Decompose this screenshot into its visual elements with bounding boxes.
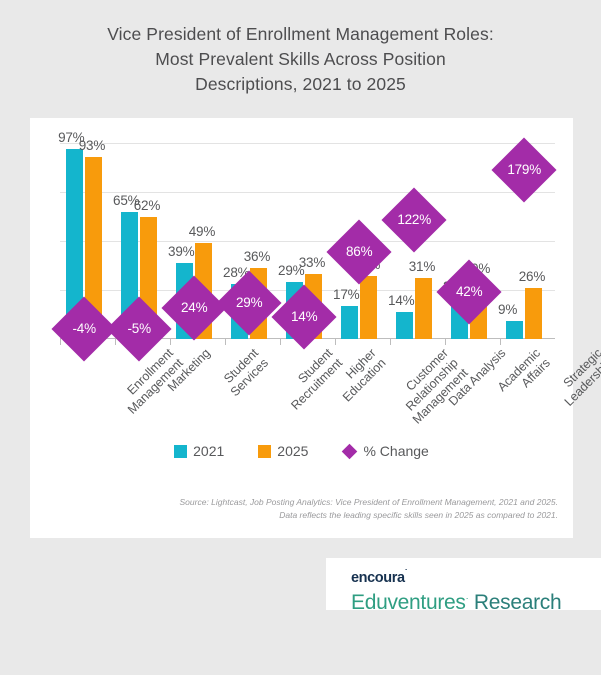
- bar-value-label-2025: 62%: [134, 198, 160, 213]
- plot-area: 97%93%-4%65%62%-5%39%49%24%28%36%29%29%3…: [60, 143, 555, 339]
- page-title: Vice President of Enrollment Management …: [0, 22, 601, 97]
- source-note: Source: Lightcast, Job Posting Analytics…: [30, 496, 558, 522]
- x-axis-label: HigherEducation: [330, 346, 388, 404]
- source-line-1: Source: Lightcast, Job Posting Analytics…: [30, 496, 558, 509]
- bar-2021[interactable]: [341, 306, 358, 339]
- bar-2021[interactable]: [506, 321, 523, 339]
- chart-legend: 20212025% Change: [30, 443, 573, 459]
- change-marker-label: 122%: [379, 212, 449, 227]
- bar-value-label-2025: 93%: [79, 138, 105, 153]
- bar-value-label-2021: 39%: [168, 244, 194, 259]
- bar-value-label-2025: 33%: [299, 255, 325, 270]
- bar-value-label-2025: 31%: [409, 259, 435, 274]
- legend-label: 2025: [277, 443, 308, 459]
- legend-item[interactable]: 2025: [258, 443, 308, 459]
- legend-item[interactable]: 2021: [174, 443, 224, 459]
- eduventures-trademark: ·: [466, 593, 469, 603]
- title-line-3: Descriptions, 2021 to 2025: [0, 72, 601, 97]
- gridline: [60, 143, 555, 144]
- eduventures-text: Eduventures: [351, 591, 466, 614]
- source-line-2: Data reflects the leading specific skill…: [30, 509, 558, 522]
- title-line-2: Most Prevalent Skills Across Position: [0, 47, 601, 72]
- legend-label: % Change: [363, 443, 428, 459]
- change-marker-label: 86%: [324, 244, 394, 259]
- bar-2025[interactable]: [525, 288, 542, 339]
- change-marker-label: 14%: [269, 309, 339, 324]
- encoura-trademark: ˙: [405, 568, 408, 578]
- bar-value-label-2021: 14%: [388, 293, 414, 308]
- bar-value-label-2025: 26%: [519, 269, 545, 284]
- x-axis-label: StrategicLeadership: [552, 346, 601, 409]
- legend-square-icon: [258, 445, 271, 458]
- eduventures-research-wordmark: Eduventures· Research: [351, 586, 561, 615]
- legend-item[interactable]: % Change: [342, 443, 428, 459]
- change-marker-label: 179%: [489, 162, 559, 177]
- bar-2025[interactable]: [360, 276, 377, 339]
- change-marker-label: 42%: [434, 284, 504, 299]
- encoura-text: encoura: [351, 570, 405, 586]
- legend-square-icon: [174, 445, 187, 458]
- title-line-1: Vice President of Enrollment Management …: [0, 22, 601, 47]
- bar-value-label-2021: 9%: [498, 302, 517, 317]
- bar-value-label-2021: 17%: [333, 287, 359, 302]
- bar-2025[interactable]: [415, 278, 432, 339]
- legend-diamond-icon: [342, 443, 358, 459]
- x-axis-labels: EnrollmentManagementMarketingStudentServ…: [60, 340, 555, 450]
- x-axis-label: StudentServices: [218, 346, 271, 399]
- bar-2021[interactable]: [396, 312, 413, 339]
- bar-value-label-2025: 36%: [244, 249, 270, 264]
- research-text: Research: [474, 591, 561, 614]
- bar-value-label-2025: 49%: [189, 224, 215, 239]
- encoura-wordmark: encoura˙: [351, 565, 561, 586]
- chart-card: 97%93%-4%65%62%-5%39%49%24%28%36%29%29%3…: [30, 118, 573, 538]
- change-marker-label: -5%: [104, 321, 174, 336]
- brand-logo: encoura˙ Eduventures· Research: [351, 565, 561, 615]
- brand-logo-band: encoura˙ Eduventures· Research: [326, 558, 601, 610]
- legend-label: 2021: [193, 443, 224, 459]
